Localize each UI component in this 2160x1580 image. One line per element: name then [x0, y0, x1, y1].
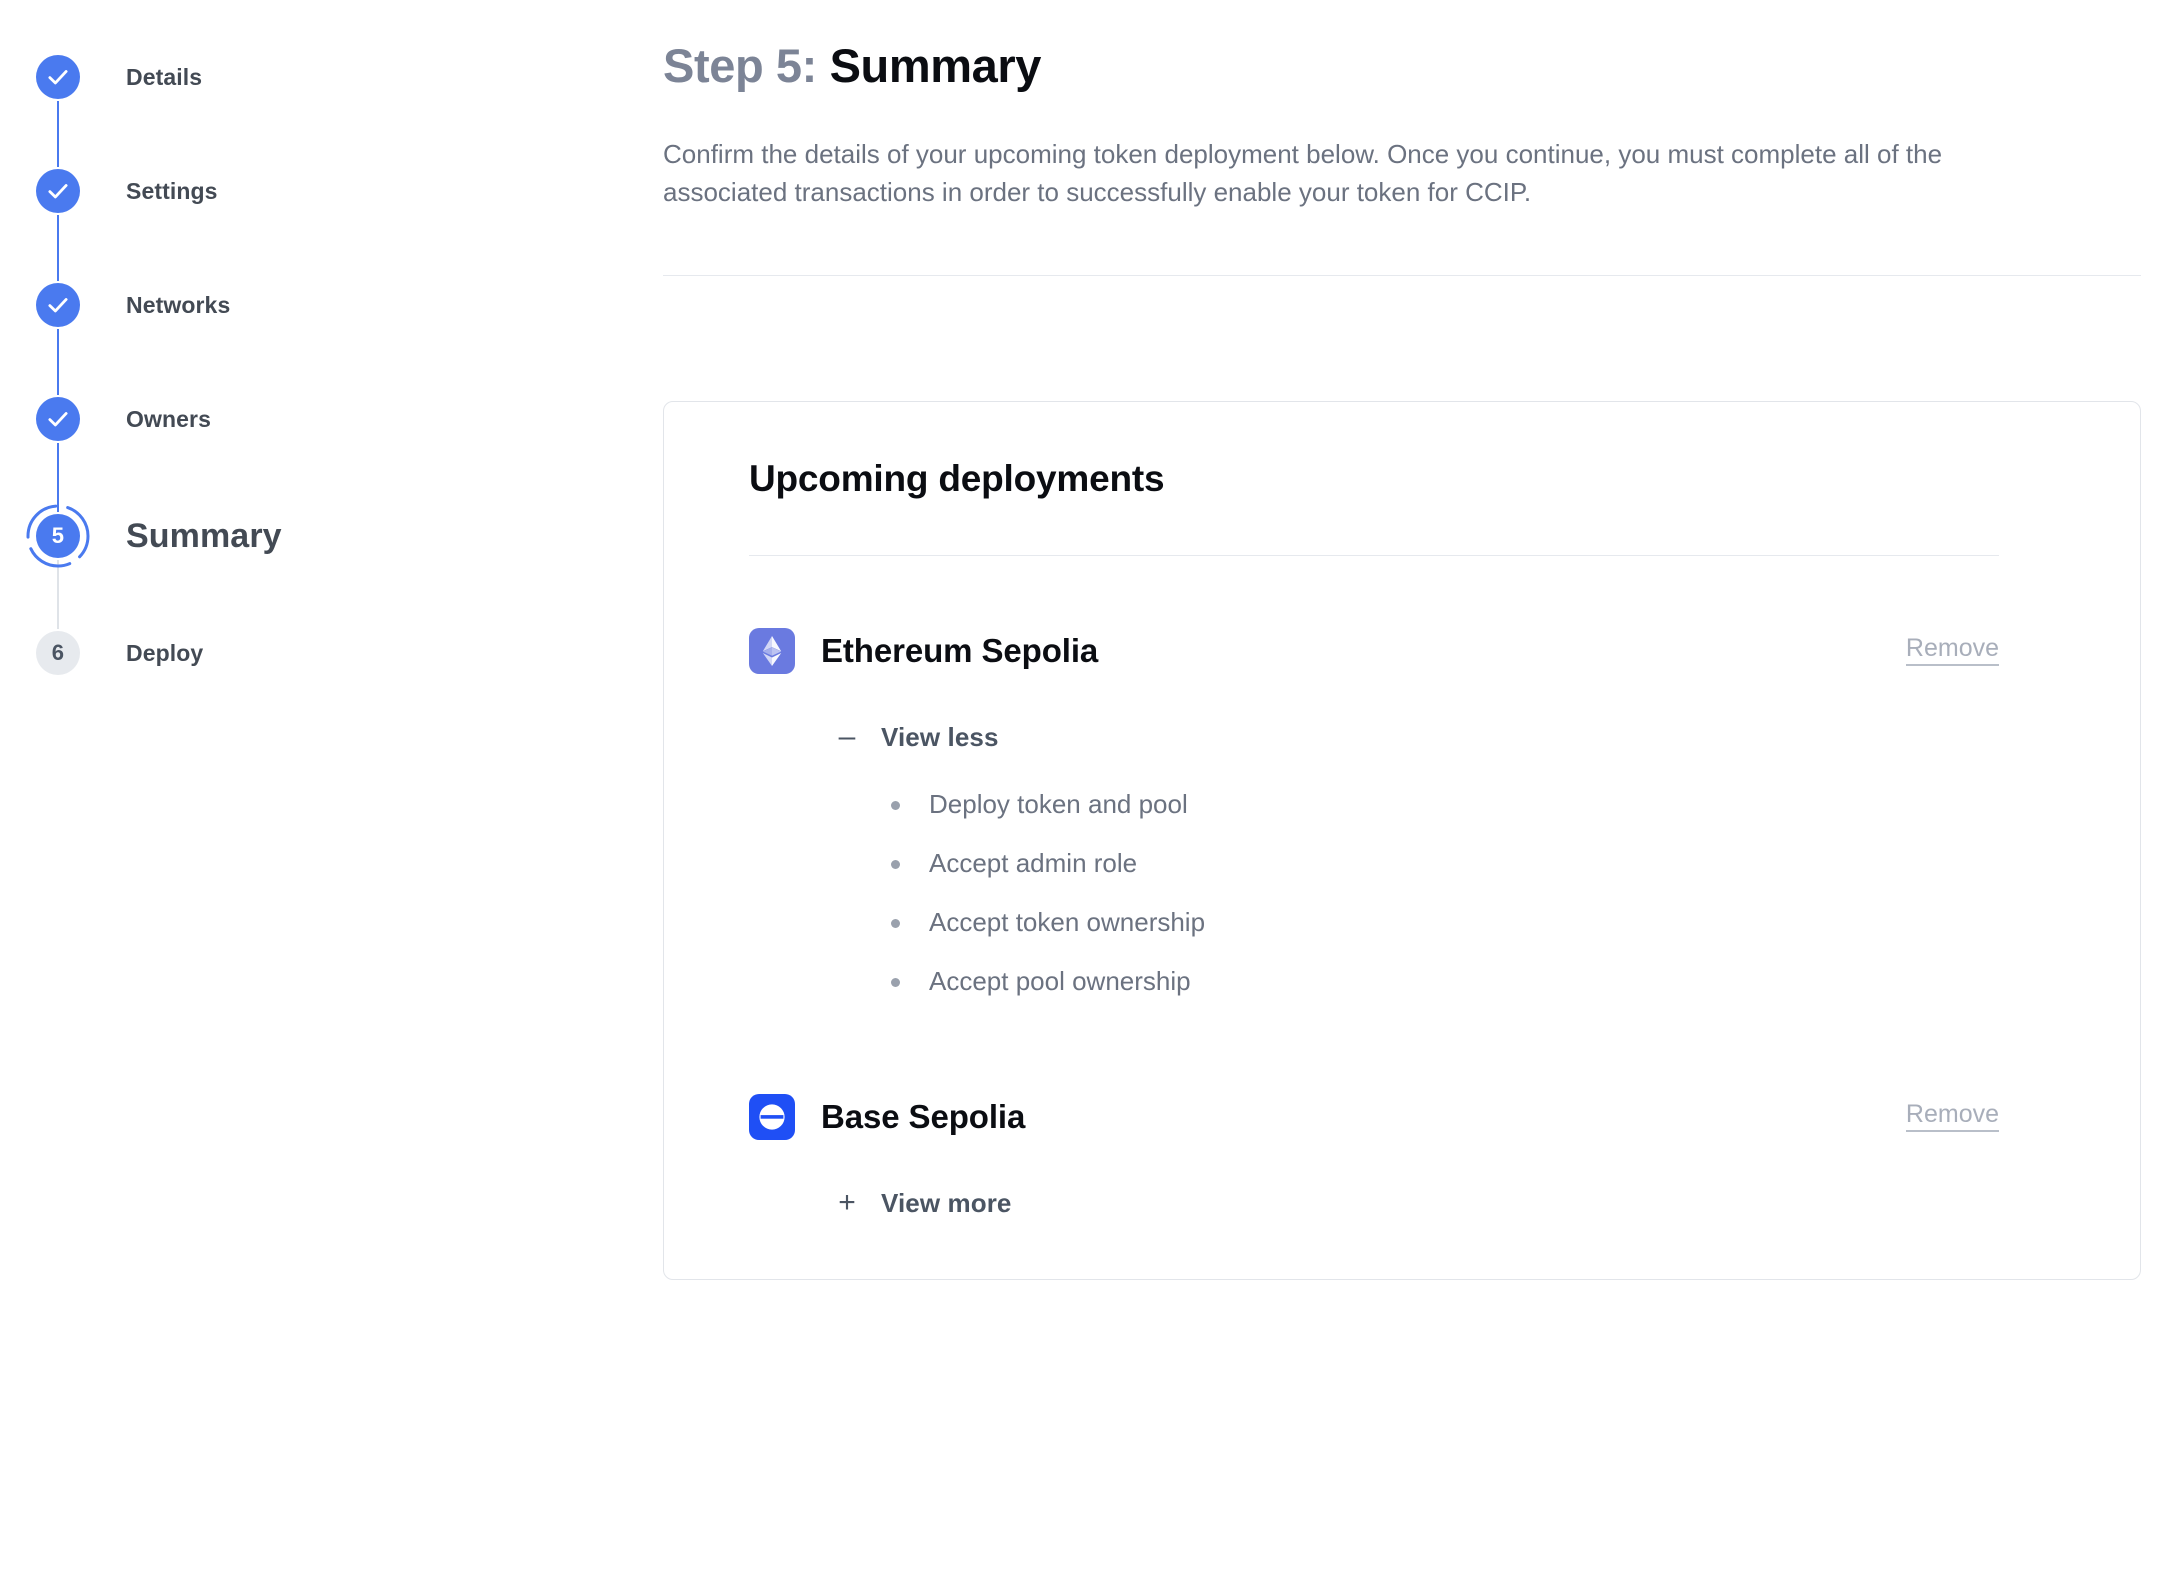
- sidebar-step-settings[interactable]: Settings: [0, 134, 663, 248]
- page-title: Step 5: Summary: [663, 40, 2141, 93]
- sidebar-step-networks[interactable]: Networks: [0, 248, 663, 362]
- page-description: Confirm the details of your upcoming tok…: [663, 135, 1953, 212]
- step-number: 5: [52, 525, 64, 547]
- sidebar-step-owners[interactable]: Owners: [0, 362, 663, 476]
- page-title-text: Summary: [830, 39, 1041, 92]
- sidebar-step-label: Details: [126, 64, 202, 91]
- view-less-toggle[interactable]: – View less: [835, 722, 999, 753]
- deployment-network-row: Base Sepolia Remove + View more: [749, 1094, 2080, 1219]
- wizard-stepper: Details Settings Networks: [0, 0, 663, 1580]
- toggle-label: View less: [881, 722, 999, 753]
- deployment-task-list: Deploy token and pool Accept admin role …: [891, 791, 2080, 994]
- network-name: Ethereum Sepolia: [821, 632, 1098, 670]
- base-icon: [749, 1094, 795, 1140]
- step-node-todo: 6: [36, 631, 80, 675]
- check-icon: [45, 64, 71, 90]
- step-node-done: [36, 283, 80, 327]
- sidebar-step-label: Deploy: [126, 640, 203, 667]
- step-marker-details: [34, 53, 82, 101]
- sidebar-step-label: Summary: [126, 517, 282, 556]
- card-title: Upcoming deployments: [749, 458, 2080, 500]
- card-title-divider: [749, 555, 1999, 556]
- step-marker-networks: [34, 281, 82, 329]
- upcoming-deployments-card: Upcoming deployments: [663, 401, 2141, 1280]
- step-marker-settings: [34, 167, 82, 215]
- header-divider: [663, 275, 2141, 276]
- minus-icon: –: [835, 722, 859, 752]
- step-number: 6: [52, 642, 64, 664]
- sidebar-step-details[interactable]: Details: [0, 20, 663, 134]
- page-title-step-prefix: Step 5:: [663, 39, 817, 92]
- sidebar-step-label: Settings: [126, 178, 218, 205]
- step-marker-deploy: 6: [34, 629, 82, 677]
- list-item: Accept admin role: [891, 850, 2080, 876]
- list-item: Accept token ownership: [891, 909, 2080, 935]
- step-node-active: 5: [36, 514, 80, 558]
- check-icon: [45, 178, 71, 204]
- step-marker-owners: [34, 395, 82, 443]
- plus-icon: +: [835, 1188, 859, 1218]
- main-content: Step 5: Summary Confirm the details of y…: [663, 0, 2160, 1580]
- sidebar-step-label: Networks: [126, 292, 230, 319]
- list-item: Accept pool ownership: [891, 968, 2080, 994]
- check-icon: [45, 406, 71, 432]
- token-manager-wizard: Details Settings Networks: [0, 0, 2160, 1580]
- step-marker-summary: 5: [34, 512, 82, 560]
- ethereum-glyph-icon: [759, 636, 785, 666]
- step-node-done: [36, 397, 80, 441]
- sidebar-step-deploy[interactable]: 6 Deploy: [0, 596, 663, 710]
- remove-network-link[interactable]: Remove: [1906, 1102, 1999, 1132]
- network-header: Base Sepolia Remove: [749, 1094, 1999, 1140]
- sidebar-step-summary[interactable]: 5 Summary: [0, 476, 663, 596]
- view-more-toggle[interactable]: + View more: [835, 1188, 1011, 1219]
- sidebar-step-label: Owners: [126, 406, 211, 433]
- toggle-label: View more: [881, 1188, 1011, 1219]
- remove-network-link[interactable]: Remove: [1906, 636, 1999, 666]
- check-icon: [45, 292, 71, 318]
- deployment-network-row: Ethereum Sepolia Remove – View less Depl…: [749, 628, 2080, 994]
- ethereum-icon: [749, 628, 795, 674]
- step-node-done: [36, 55, 80, 99]
- base-glyph-icon: [757, 1102, 787, 1132]
- network-name: Base Sepolia: [821, 1098, 1025, 1136]
- step-node-done: [36, 169, 80, 213]
- list-item: Deploy token and pool: [891, 791, 2080, 817]
- network-header: Ethereum Sepolia Remove: [749, 628, 1999, 674]
